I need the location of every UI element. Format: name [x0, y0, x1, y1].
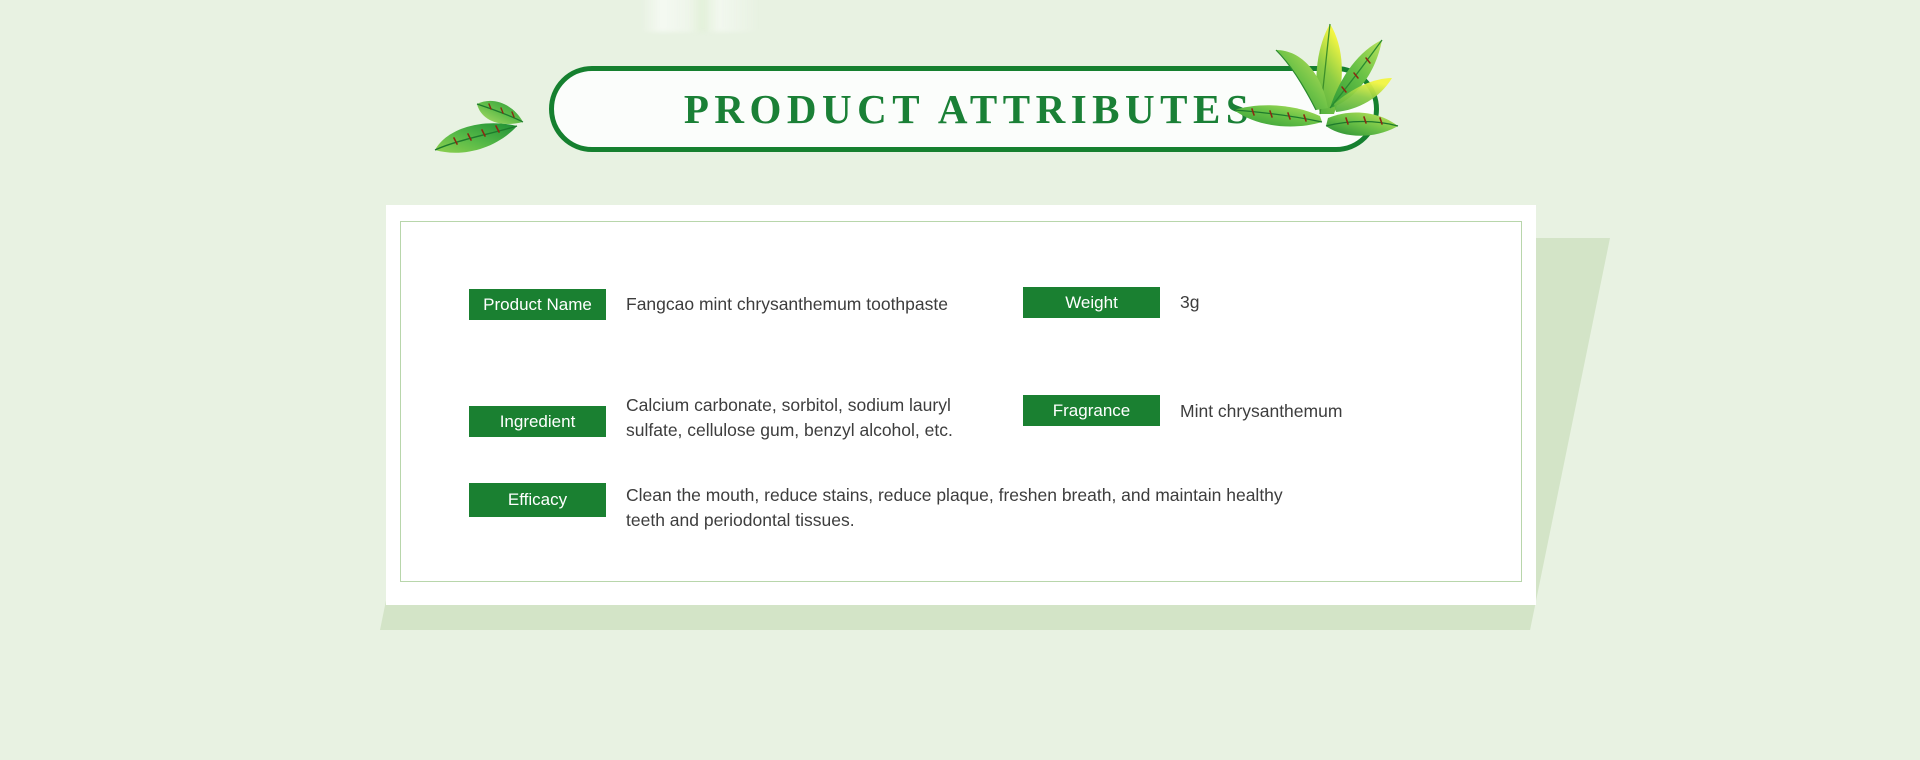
attributes-list: Product Name Fangcao mint chrysanthemum … [469, 289, 1509, 539]
attribute-value-ingredient: Calcium carbonate, sorbitol, sodium laur… [606, 393, 953, 443]
leaf-icon [427, 78, 557, 168]
attribute-value-weight: 3g [1160, 287, 1199, 315]
attribute-value-efficacy: Clean the mouth, reduce stains, reduce p… [606, 481, 1326, 533]
attribute-label-product-name: Product Name [469, 289, 606, 320]
banner-pill: PRODUCT ATTRIBUTES [549, 66, 1379, 152]
attribute-label-ingredient: Ingredient [469, 406, 606, 437]
attribute-weight: Weight 3g [1023, 287, 1199, 318]
attribute-label-weight: Weight [1023, 287, 1160, 318]
attribute-row: Product Name Fangcao mint chrysanthemum … [469, 289, 1509, 375]
attribute-fragrance: Fragrance Mint chrysanthemum [1023, 393, 1342, 426]
attribute-product-name: Product Name Fangcao mint chrysanthemum … [469, 289, 948, 320]
attribute-ingredient: Ingredient Calcium carbonate, sorbitol, … [469, 393, 953, 443]
attribute-value-product-name: Fangcao mint chrysanthemum toothpaste [606, 289, 948, 317]
attribute-row: Ingredient Calcium carbonate, sorbitol, … [469, 375, 1509, 469]
attribute-efficacy: Efficacy Clean the mouth, reduce stains,… [469, 481, 1326, 533]
attribute-value-fragrance: Mint chrysanthemum [1160, 393, 1342, 424]
page-title: PRODUCT ATTRIBUTES [554, 71, 1384, 147]
attribute-label-efficacy: Efficacy [469, 483, 606, 517]
background-artifact [640, 0, 760, 32]
attribute-label-fragrance: Fragrance [1023, 395, 1160, 426]
page-title-banner: PRODUCT ATTRIBUTES [489, 66, 1391, 156]
attribute-row: Efficacy Clean the mouth, reduce stains,… [469, 469, 1509, 539]
